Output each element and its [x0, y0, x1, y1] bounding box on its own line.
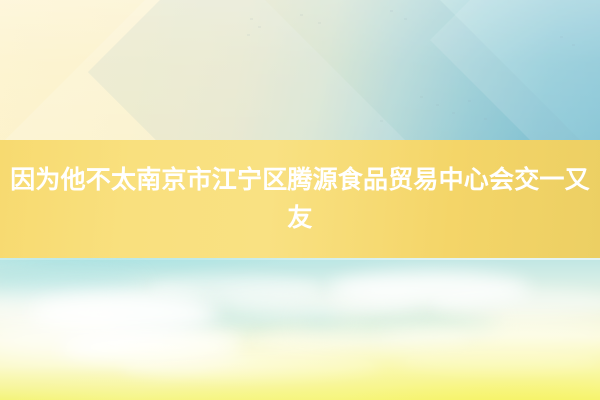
texture-speckle	[300, 14, 303, 16]
texture-speckle	[452, 112, 455, 114]
caption-text: 因为他不太南京市江宁区腾源食品贸易中心会交一又友	[1, 161, 599, 237]
texture-speckle	[572, 44, 575, 46]
sky-warm-wash	[0, 258, 600, 400]
texture-speckle	[250, 18, 253, 20]
texture-speckle	[380, 120, 383, 122]
texture-speckle	[436, 104, 439, 106]
texture-speckle	[420, 96, 423, 98]
upper-gradient-scene	[0, 0, 600, 141]
banner-image: 因为他不太南京市江宁区腾源食品贸易中心会交一又友	[0, 0, 600, 400]
texture-speckle	[468, 100, 471, 102]
texture-speckle	[404, 18, 407, 20]
texture-speckle	[484, 118, 487, 120]
texture-speckle	[390, 10, 393, 12]
texture-speckle	[258, 26, 261, 28]
texture-speckle	[247, 34, 250, 36]
texture-speckle	[318, 22, 321, 24]
lower-sky-scene	[0, 258, 600, 400]
caption-band: 因为他不太南京市江宁区腾源食品贸易中心会交一又友	[0, 140, 600, 258]
texture-speckle	[560, 36, 563, 38]
